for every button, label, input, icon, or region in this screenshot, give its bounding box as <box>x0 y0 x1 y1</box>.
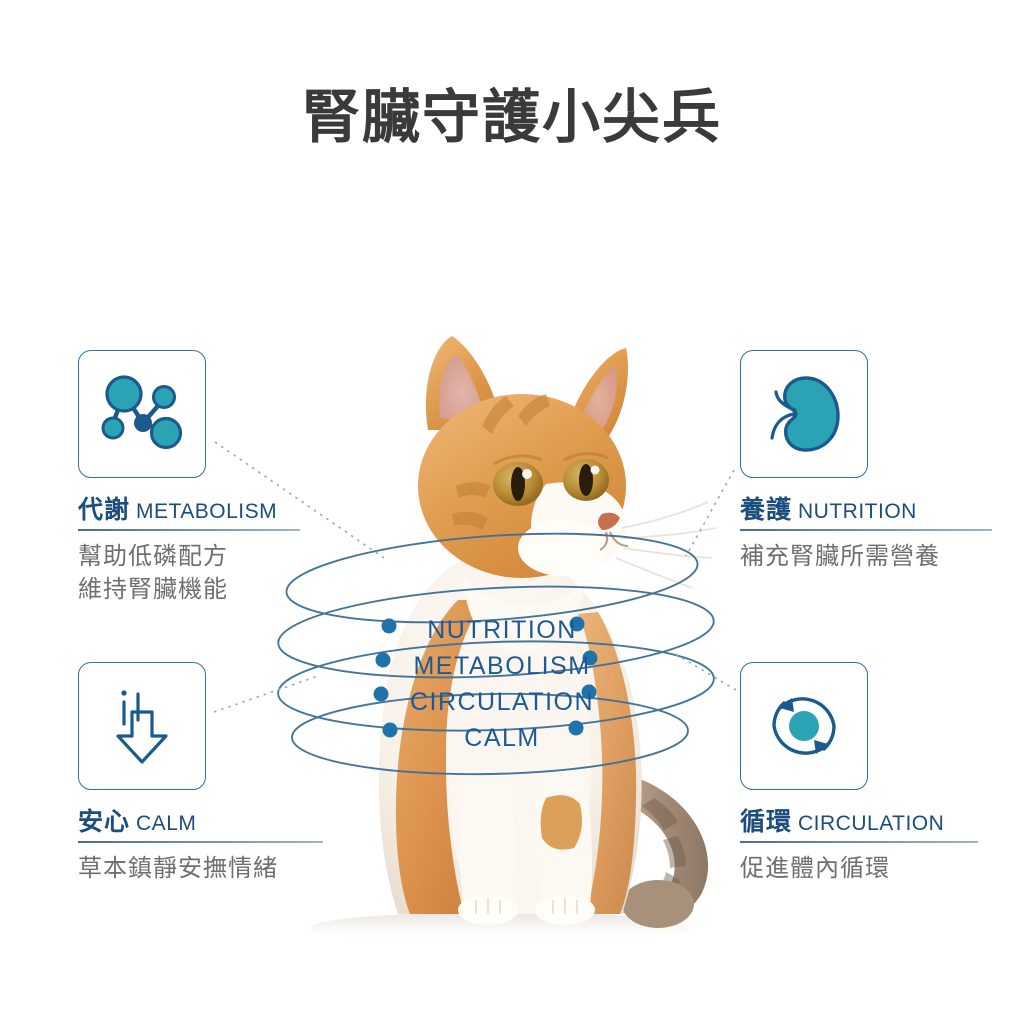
calm-icon-box[interactable] <box>78 662 206 790</box>
metabolism-desc-line2: 維持腎臟機能 <box>78 574 378 605</box>
calm-label-zh: 安心 <box>78 807 130 836</box>
nutrition-icon-box[interactable] <box>740 350 868 478</box>
feature-circulation[interactable]: 循環CIRCULATION 促進體內循環 <box>740 662 1024 884</box>
circulation-icon-box[interactable] <box>740 662 868 790</box>
circulation-divider <box>740 841 978 843</box>
feature-metabolism[interactable]: 代謝METABOLISM 幫助低磷配方 維持腎臟機能 <box>78 350 378 604</box>
nutrition-divider <box>740 529 992 531</box>
down-arrow-icon <box>94 678 190 774</box>
feature-calm[interactable]: 安心CALM 草本鎮靜安撫情緒 <box>78 662 378 884</box>
metabolism-desc-line1: 幫助低磷配方 <box>78 541 378 572</box>
nutrition-label-en: NUTRITION <box>798 500 917 523</box>
calm-desc-line1: 草本鎮靜安撫情緒 <box>78 853 378 884</box>
poster-canvas: 腎臟守護小尖兵 <box>0 0 1024 1024</box>
circulation-label-en: CIRCULATION <box>798 812 944 835</box>
page-title: 腎臟守護小尖兵 <box>0 88 1024 146</box>
circular-arrows-icon <box>756 678 852 774</box>
feature-nutrition[interactable]: 養護NUTRITION 補充腎臟所需營養 <box>740 350 1024 572</box>
metabolism-label-en: METABOLISM <box>136 500 277 523</box>
calm-label: 安心CALM <box>78 809 378 834</box>
circulation-desc-line1: 促進體內循環 <box>740 853 1024 884</box>
metabolism-label-zh: 代謝 <box>78 495 130 524</box>
nutrition-desc-line1: 補充腎臟所需營養 <box>740 541 1024 572</box>
kidney-icon <box>756 366 852 462</box>
metabolism-icon-box[interactable] <box>78 350 206 478</box>
metabolism-divider <box>78 529 300 531</box>
circulation-label-zh: 循環 <box>740 807 792 836</box>
nutrition-label-zh: 養護 <box>740 495 792 524</box>
circulation-label: 循環CIRCULATION <box>740 809 1024 834</box>
calm-divider <box>78 841 323 843</box>
molecule-network-icon <box>94 366 190 462</box>
metabolism-label: 代謝METABOLISM <box>78 497 378 522</box>
calm-label-en: CALM <box>136 812 196 835</box>
nutrition-label: 養護NUTRITION <box>740 497 1024 522</box>
